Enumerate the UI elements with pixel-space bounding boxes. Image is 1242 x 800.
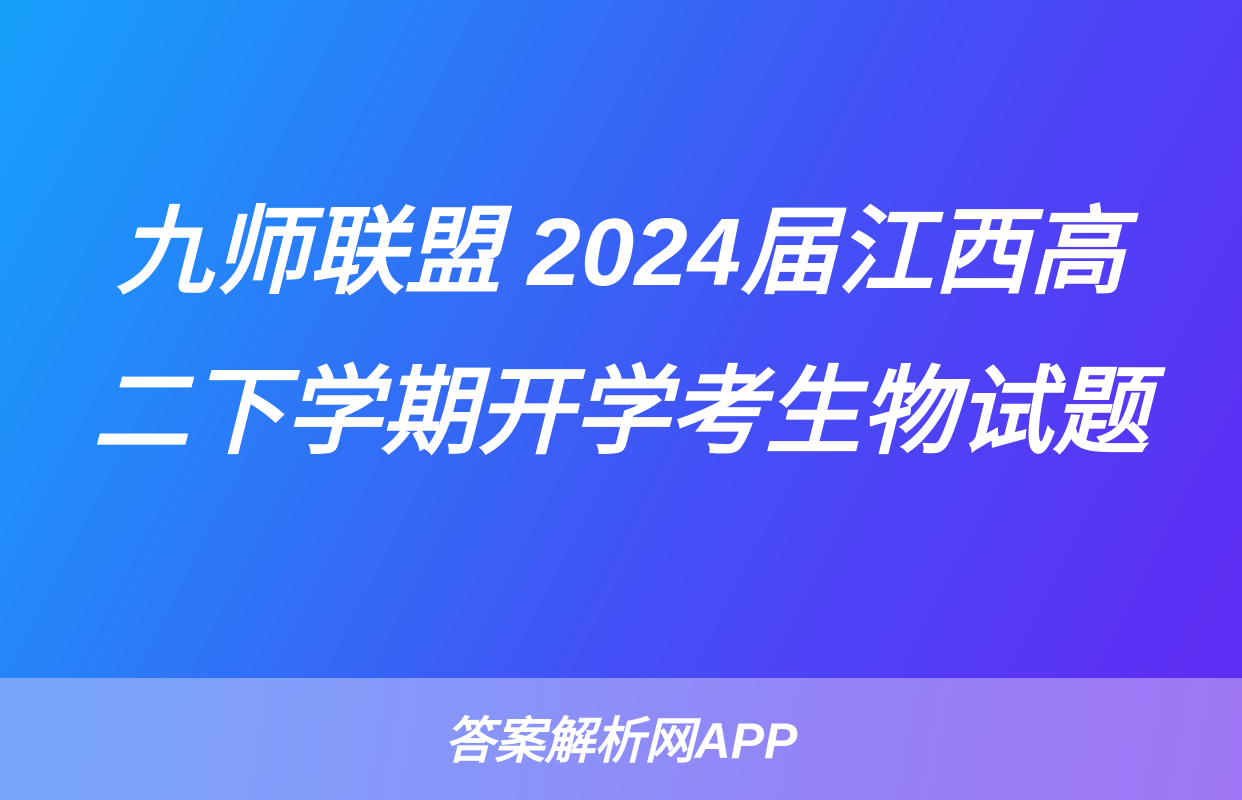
page-title: 九师联盟 2024届江西高二下学期开学考生物试题 — [71, 173, 1171, 493]
footer-brand-bar: 答案解析网APP — [0, 678, 1242, 800]
brand-name: 答案解析网APP — [445, 716, 798, 766]
hero-banner: 九师联盟 2024届江西高二下学期开学考生物试题 — [0, 0, 1242, 678]
poster-card: 九师联盟 2024届江西高二下学期开学考生物试题 答案解析网APP — [0, 0, 1242, 800]
